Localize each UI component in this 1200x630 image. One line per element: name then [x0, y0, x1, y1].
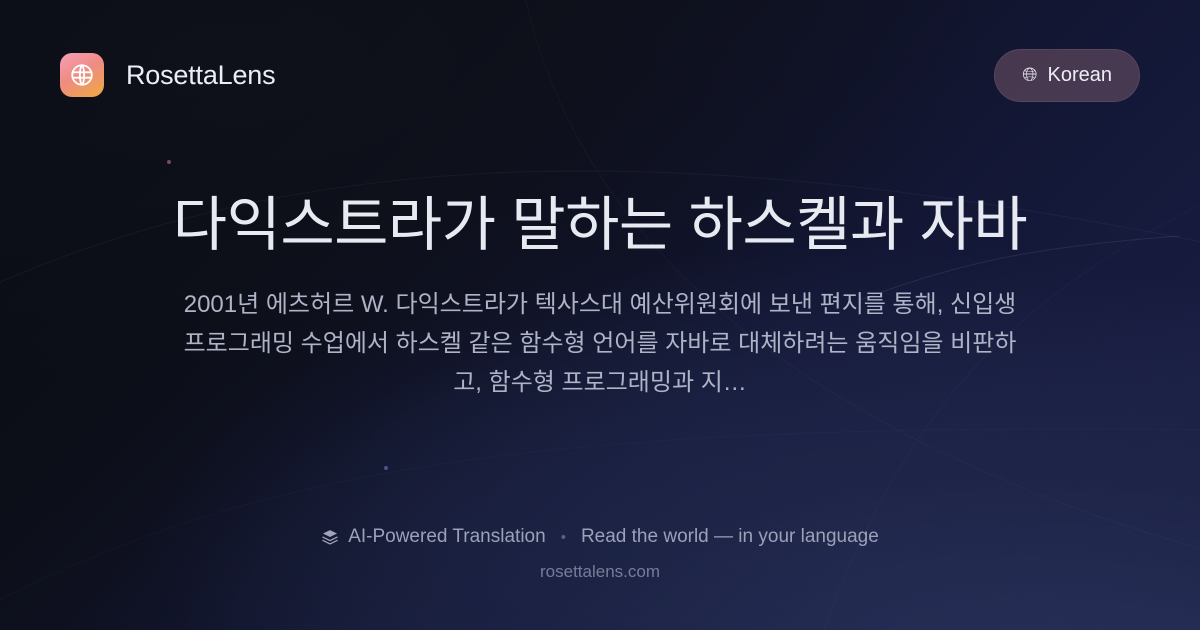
- language-badge[interactable]: 🌐︎ Korean: [994, 49, 1140, 102]
- og-card: RosettaLens 🌐︎ Korean 다익스트라가 말하는 하스켈과 자바…: [0, 0, 1200, 630]
- ai-translation-badge: AI-Powered Translation: [321, 526, 546, 548]
- brand-name: RosettaLens: [126, 60, 275, 91]
- footer: AI-Powered Translation • Read the world …: [0, 526, 1200, 582]
- sparkle-dot-pink: [167, 160, 171, 164]
- globe-icon: [69, 62, 95, 88]
- sparkle-dot-blue: [384, 466, 388, 470]
- brand[interactable]: RosettaLens: [60, 53, 275, 97]
- header: RosettaLens 🌐︎ Korean: [0, 0, 1200, 150]
- footer-separator: •: [561, 529, 566, 546]
- brand-logo-tile: [60, 53, 104, 97]
- footer-site-url: rosettalens.com: [0, 562, 1200, 582]
- page-title: 다익스트라가 말하는 하스켈과 자바: [100, 190, 1100, 262]
- language-badge-label: Korean: [1048, 64, 1113, 87]
- footer-row: AI-Powered Translation • Read the world …: [0, 526, 1200, 548]
- footer-tagline: Read the world — in your language: [581, 526, 879, 548]
- globe-icon: 🌐︎: [1022, 66, 1037, 85]
- main-content: 다익스트라가 말하는 하스켈과 자바 2001년 에츠허르 W. 다익스트라가 …: [0, 190, 1200, 403]
- layers-icon: [321, 528, 339, 546]
- ai-translation-label: AI-Powered Translation: [348, 526, 546, 548]
- page-description: 2001년 에츠허르 W. 다익스트라가 텍사스대 예산위원회에 보낸 편지를 …: [182, 286, 1018, 403]
